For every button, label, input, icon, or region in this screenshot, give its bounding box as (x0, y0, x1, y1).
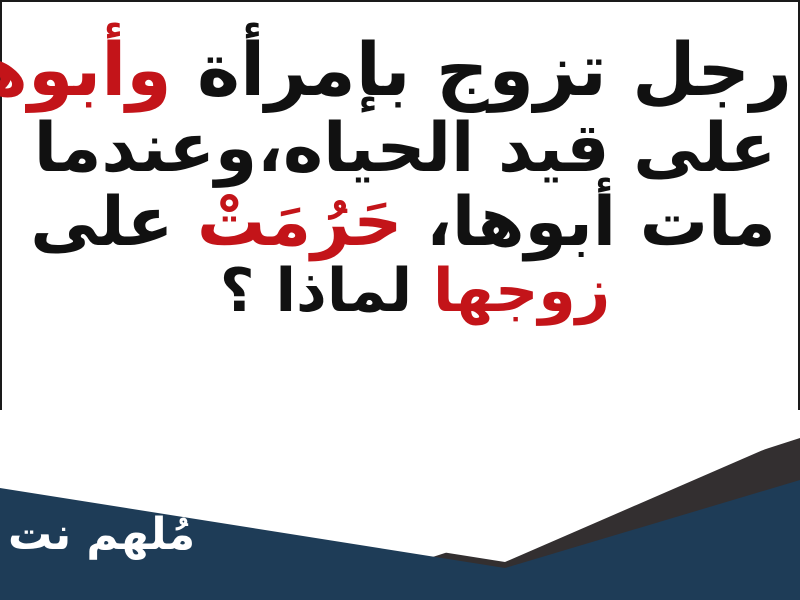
riddle-line-1: رجل تزوج بإمرأة وأبوها (0, 34, 800, 108)
riddle-line-2: على قيد الحياه،وعندما (0, 114, 800, 183)
riddle-text-block: رجل تزوج بإمرأة وأبوها على قيد الحياه،وع… (0, 34, 800, 322)
banner-navy-footer (0, 578, 800, 600)
riddle-line-4: زوجها لماذا ؟ (0, 261, 800, 322)
riddle-line-3-segment-3: على (30, 183, 197, 262)
bottom-banner (0, 410, 800, 600)
riddle-line-3-segment-1: مات أبوها، (402, 183, 775, 262)
riddle-line-3: مات أبوها، حَرُمَتْ على (0, 188, 800, 257)
riddle-line-3-segment-2: حَرُمَتْ (197, 183, 402, 262)
riddle-line-4-segment-2: لماذا ؟ (220, 256, 433, 326)
riddle-line-1-segment-2: وأبوها (0, 28, 172, 113)
banner-shapes (0, 410, 800, 600)
image-canvas: رجل تزوج بإمرأة وأبوها على قيد الحياه،وع… (0, 0, 800, 600)
riddle-line-2-segment-1: على قيد الحياه،وعندما (34, 109, 776, 188)
riddle-line-4-segment-1: زوجها (433, 256, 610, 326)
watermark-text: مُلهم نت (8, 509, 195, 560)
riddle-line-1-segment-1: رجل تزوج بإمرأة (172, 28, 792, 113)
